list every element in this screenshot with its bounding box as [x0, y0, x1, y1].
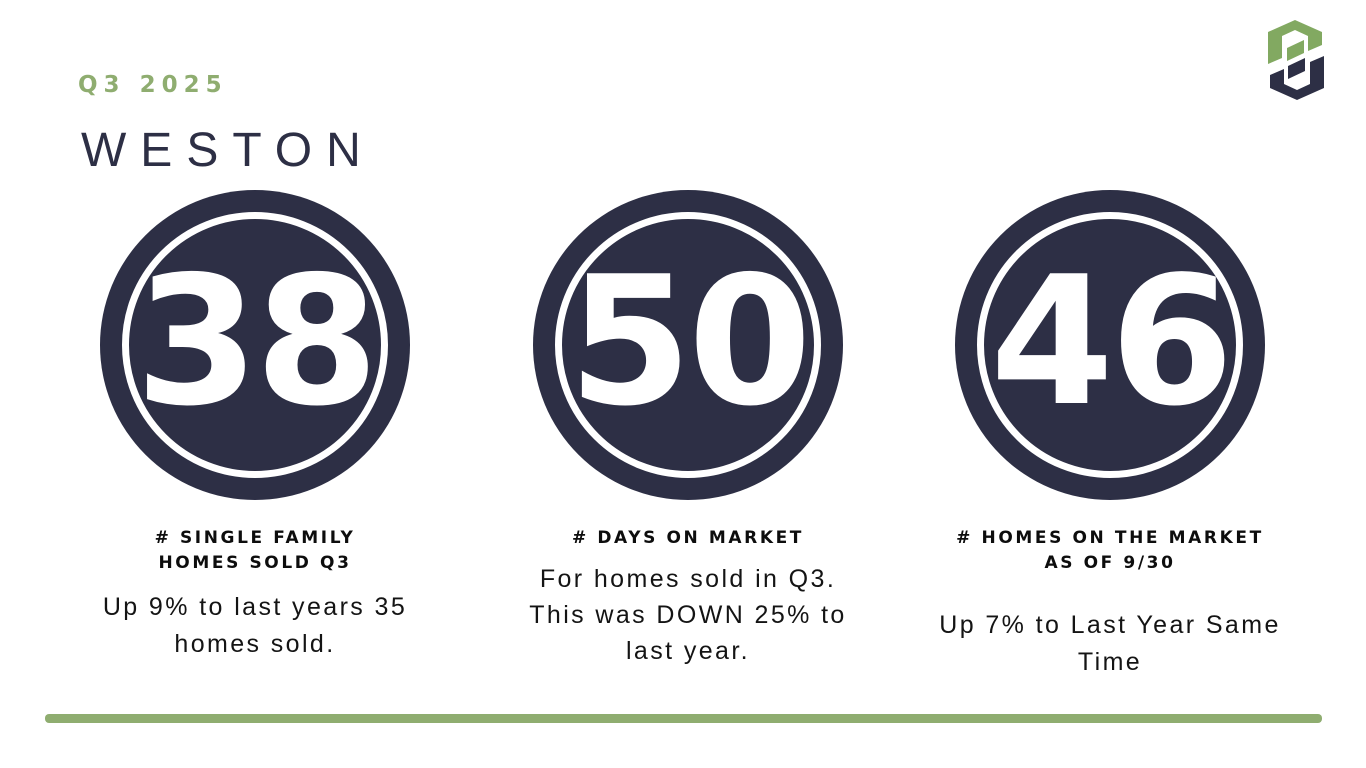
- stat-caption: # SINGLE FAMILY HOMES SOLD Q3: [70, 526, 440, 575]
- stat-caption-line-1: # HOMES ON THE MARKET: [956, 528, 1264, 548]
- stat-card-homes-on-market: 46 # HOMES ON THE MARKET AS OF 9/30 Up 7…: [910, 190, 1310, 680]
- stat-description: Up 7% to Last Year Same Time: [930, 607, 1290, 680]
- quarter-label: Q3 2025: [78, 74, 375, 97]
- stat-caption: # DAYS ON MARKET: [503, 526, 873, 551]
- stat-value: 46: [990, 253, 1230, 431]
- page-title: WESTON: [81, 127, 375, 175]
- stat-badge-circle: 46: [955, 190, 1265, 500]
- stat-caption-line-1: # DAYS ON MARKET: [572, 528, 804, 548]
- stat-caption-line-2: HOMES SOLD Q3: [158, 553, 351, 573]
- stat-card-homes-sold: 38 # SINGLE FAMILY HOMES SOLD Q3 Up 9% t…: [55, 190, 455, 662]
- logo-letter-p-shape: [1268, 20, 1322, 64]
- stat-card-days-on-market: 50 # DAYS ON MARKET For homes sold in Q3…: [488, 190, 888, 669]
- logo-letter-p-bowl: [1287, 40, 1304, 61]
- header-block: Q3 2025 WESTON: [78, 74, 375, 175]
- stat-caption-line-1: # SINGLE FAMILY: [155, 528, 356, 548]
- stat-description: For homes sold in Q3. This was DOWN 25% …: [508, 561, 868, 670]
- stat-value: 50: [568, 253, 808, 431]
- logo-letter-d-bowl: [1288, 58, 1305, 79]
- stat-caption: # HOMES ON THE MARKET AS OF 9/30: [925, 526, 1295, 575]
- stat-caption-line-2: AS OF 9/30: [1045, 553, 1176, 573]
- stat-badge-circle: 50: [533, 190, 843, 500]
- stat-value: 38: [135, 253, 375, 431]
- footer-accent-rule: [45, 714, 1322, 723]
- stat-description: Up 9% to last years 35 homes sold.: [75, 589, 435, 662]
- pd-monogram-logo: [1264, 18, 1328, 102]
- stat-badge-circle: 38: [100, 190, 410, 500]
